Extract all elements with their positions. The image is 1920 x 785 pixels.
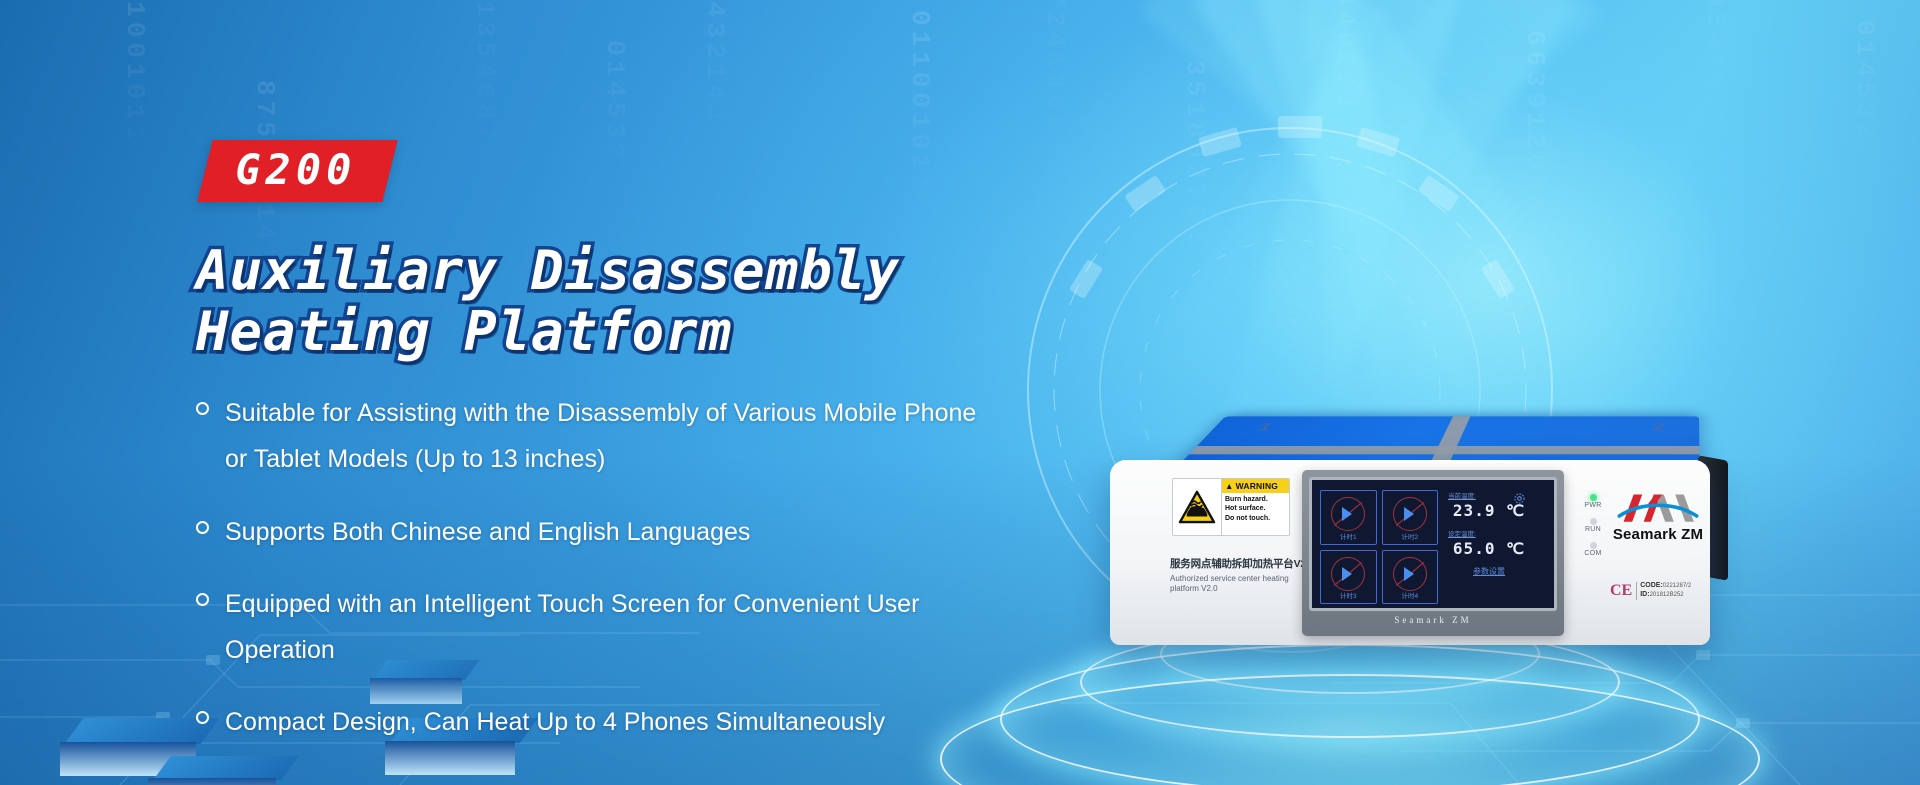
warning-label: ▲ WARNING Burn hazard. Hot surface. Do n… [1172,478,1290,536]
channel-label: 计时4 [1383,590,1438,600]
feature-text: Supports Both Chinese and English Langua… [225,509,750,555]
play-icon [1342,507,1352,521]
ce-mark-icon: CE [1610,582,1632,600]
hot-surface-icon [1173,479,1221,535]
status-led [1590,518,1597,525]
bullet-circle-icon [196,402,209,415]
list-item: Suitable for Assisting with the Disassem… [196,390,986,483]
temperature-readouts: 当前温度: 23.9 ℃ 设定温度: 65.0 ℃ 参数设置 [1448,490,1530,577]
gear-icon[interactable] [1513,492,1526,505]
bullet-circle-icon [196,521,209,534]
id-value: 201812B252 [1650,592,1684,598]
channel-button[interactable]: 计时2 [1382,490,1439,545]
zone-number: 1 [1253,420,1277,433]
digit-column: 3518027649 [1180,60,1210,266]
status-led-group: PWR RUN COM [1576,494,1610,566]
status-led-label: COM [1576,550,1610,557]
zone-number: 2 [1652,420,1666,433]
brand-logo: Seamark ZM [1608,484,1708,543]
product-device: 1 2 3 4 [1110,330,1750,670]
digit-column: 4402917385 [1330,0,1360,196]
feature-text: Compact Design, Can Heat Up to 4 Phones … [225,699,885,745]
status-led-label: PWR [1576,502,1610,509]
bullet-circle-icon [196,711,209,724]
warning-header-text: WARNING [1236,481,1278,491]
status-led [1590,494,1597,501]
id-label: ID: [1640,591,1649,598]
set-temp-label: 设定温度: [1448,528,1530,538]
channel-button[interactable]: 计时4 [1382,550,1439,605]
product-banner: 2135468798014532787543214380110010110972… [0,0,1920,785]
channel-button-grid: 计时1 计时2 计时3 [1320,490,1438,604]
play-icon [1404,507,1414,521]
feature-list: Suitable for Assisting with the Disassem… [196,390,986,772]
bullet-circle-icon [196,593,209,606]
seamark-logo-icon [1615,484,1701,528]
list-item: Compact Design, Can Heat Up to 4 Phones … [196,699,986,745]
warning-line-2: Hot surface. [1225,504,1286,513]
play-icon [1342,567,1352,581]
warning-triangle-icon: ▲ [1225,481,1234,491]
set-temp-value: 65.0 ℃ [1448,539,1530,558]
play-icon [1404,567,1414,581]
status-led-label: RUN [1576,526,1610,533]
digit-column: 2135468798 [1700,0,1730,156]
status-led [1590,542,1597,549]
code-value: 0221287/2 [1663,583,1691,589]
warning-line-1: Burn hazard. [1225,495,1286,504]
warning-line-3: Do not touch. [1225,514,1286,523]
channel-label: 计时2 [1383,531,1438,541]
feature-text: Suitable for Assisting with the Disassem… [225,390,986,483]
code-label: CODE: [1640,582,1663,589]
certification-mark: CE CODE:0221287/2 ID:201812B252 [1610,582,1691,600]
channel-label: 计时1 [1321,531,1376,541]
channel-button[interactable]: 计时3 [1320,550,1377,605]
digit-column: 9724136805 [1040,0,1070,176]
banner-content: G200 Auxiliary Disassembly Heating Platf… [0,0,1000,785]
brand-name: Seamark ZM [1608,526,1708,543]
page-title: Auxiliary Disassembly Heating Platform [196,241,1156,362]
model-badge-label: G200 [235,149,356,191]
channel-label: 计时3 [1321,590,1376,600]
warning-header: ▲ WARNING [1222,479,1289,493]
feature-text: Equipped with an Intelligent Touch Scree… [225,581,986,674]
list-item: Equipped with an Intelligent Touch Scree… [196,581,986,674]
digit-column: 6639120847 [1520,30,1550,236]
device-front-panel: ▲ WARNING Burn hazard. Hot surface. Do n… [1110,460,1710,645]
model-badge: G200 [197,140,398,202]
hmi-display[interactable]: 计时1 计时2 计时3 [1309,477,1557,611]
hmi-brand-text: Seamark ZM [1309,615,1557,625]
digit-column: 0145327 [1850,20,1880,164]
hmi-touchscreen[interactable]: 计时1 计时2 计时3 [1302,470,1564,636]
settings-button[interactable]: 参数设置 [1448,566,1530,577]
list-item: Supports Both Chinese and English Langua… [196,509,986,555]
channel-button[interactable]: 计时1 [1320,490,1377,545]
